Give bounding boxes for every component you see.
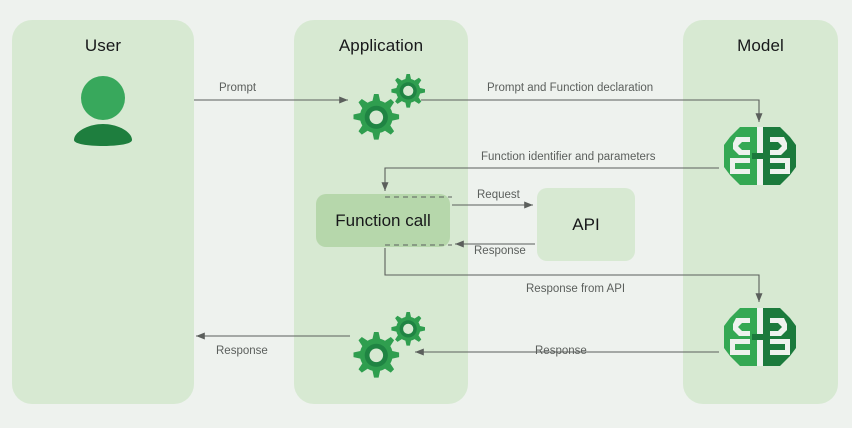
edge-label-api-response: Response xyxy=(474,245,526,257)
edge-label-request: Request xyxy=(477,189,520,201)
edge-label-prompt: Prompt xyxy=(219,82,256,94)
diagram-canvas: User Application Model Function call API xyxy=(0,0,852,428)
edge-label-app-response: Response xyxy=(216,345,268,357)
edge-label-prompt-and-function-declaration: Prompt and Function declaration xyxy=(487,82,653,94)
connector-layer xyxy=(0,0,852,428)
edge-label-model-response: Response xyxy=(535,345,587,357)
edge-label-function-identifier-and-parameters: Function identifier and parameters xyxy=(481,151,656,163)
edge-function-identifier-and-parameters-line xyxy=(385,168,719,191)
edge-prompt-and-function-declaration-line xyxy=(421,100,759,122)
edge-label-response-from-api: Response from API xyxy=(526,283,625,295)
